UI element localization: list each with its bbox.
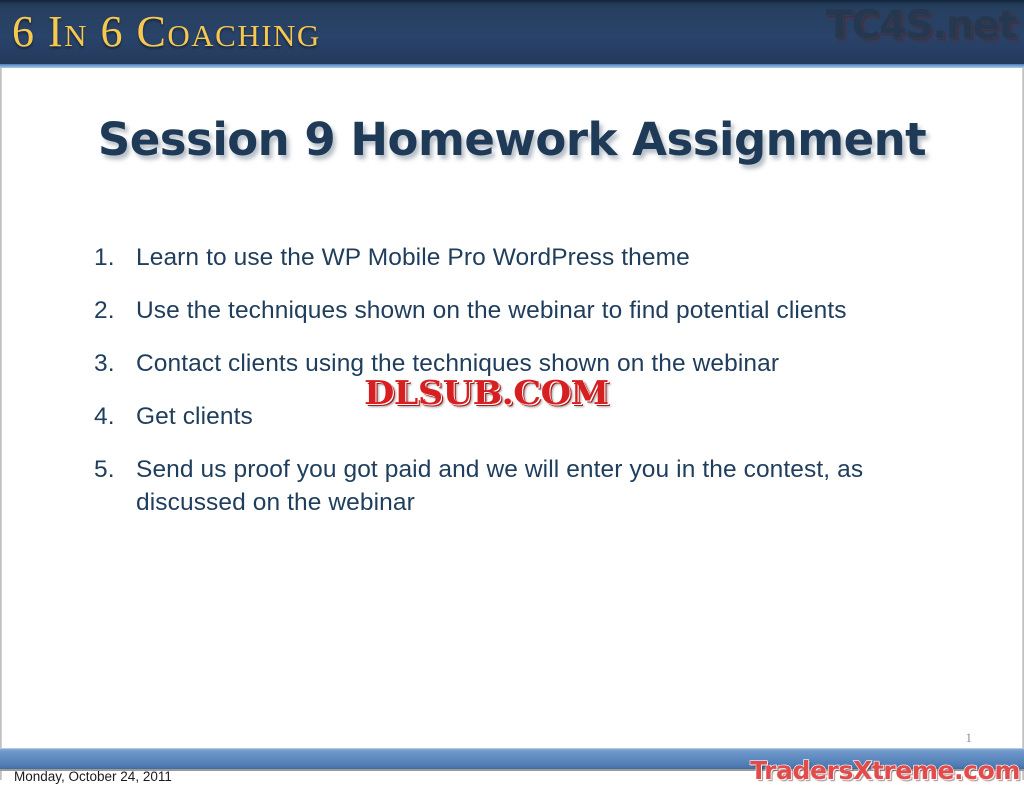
slide-border-left [0,68,2,780]
tc4s-watermark-logo: TC4S.net [826,2,1016,49]
page-number: 1 [966,730,973,746]
page-title: Session 9 Homework Assignment [0,113,1024,166]
footer-date: Monday, October 24, 2011 [14,769,172,784]
list-item-number: 1. [94,241,136,274]
list-item-number: 4. [94,400,136,433]
header-accent-rule [0,64,1024,68]
list-item-text: Send us proof you got paid and we will e… [136,453,974,519]
presentation-slide: 6 In 6 Coaching TC4S.net Session 9 Homew… [0,0,1024,788]
dlsub-watermark: DLSUB.COM [364,375,609,411]
list-item: 1. Learn to use the WP Mobile Pro WordPr… [94,241,974,274]
list-item-text: Use the techniques shown on the webinar … [136,294,974,327]
list-item: 5. Send us proof you got paid and we wil… [94,453,974,519]
tradersxtreme-logo: TradersXtreme.com [750,756,1020,786]
list-item-number: 5. [94,453,136,486]
list-item-number: 3. [94,347,136,380]
slide-header-band: 6 In 6 Coaching TC4S.net [0,0,1024,67]
list-item: 2. Use the techniques shown on the webin… [94,294,974,327]
list-item-text: Learn to use the WP Mobile Pro WordPress… [136,241,974,274]
list-item-number: 2. [94,294,136,327]
brand-title: 6 In 6 Coaching [12,6,321,58]
